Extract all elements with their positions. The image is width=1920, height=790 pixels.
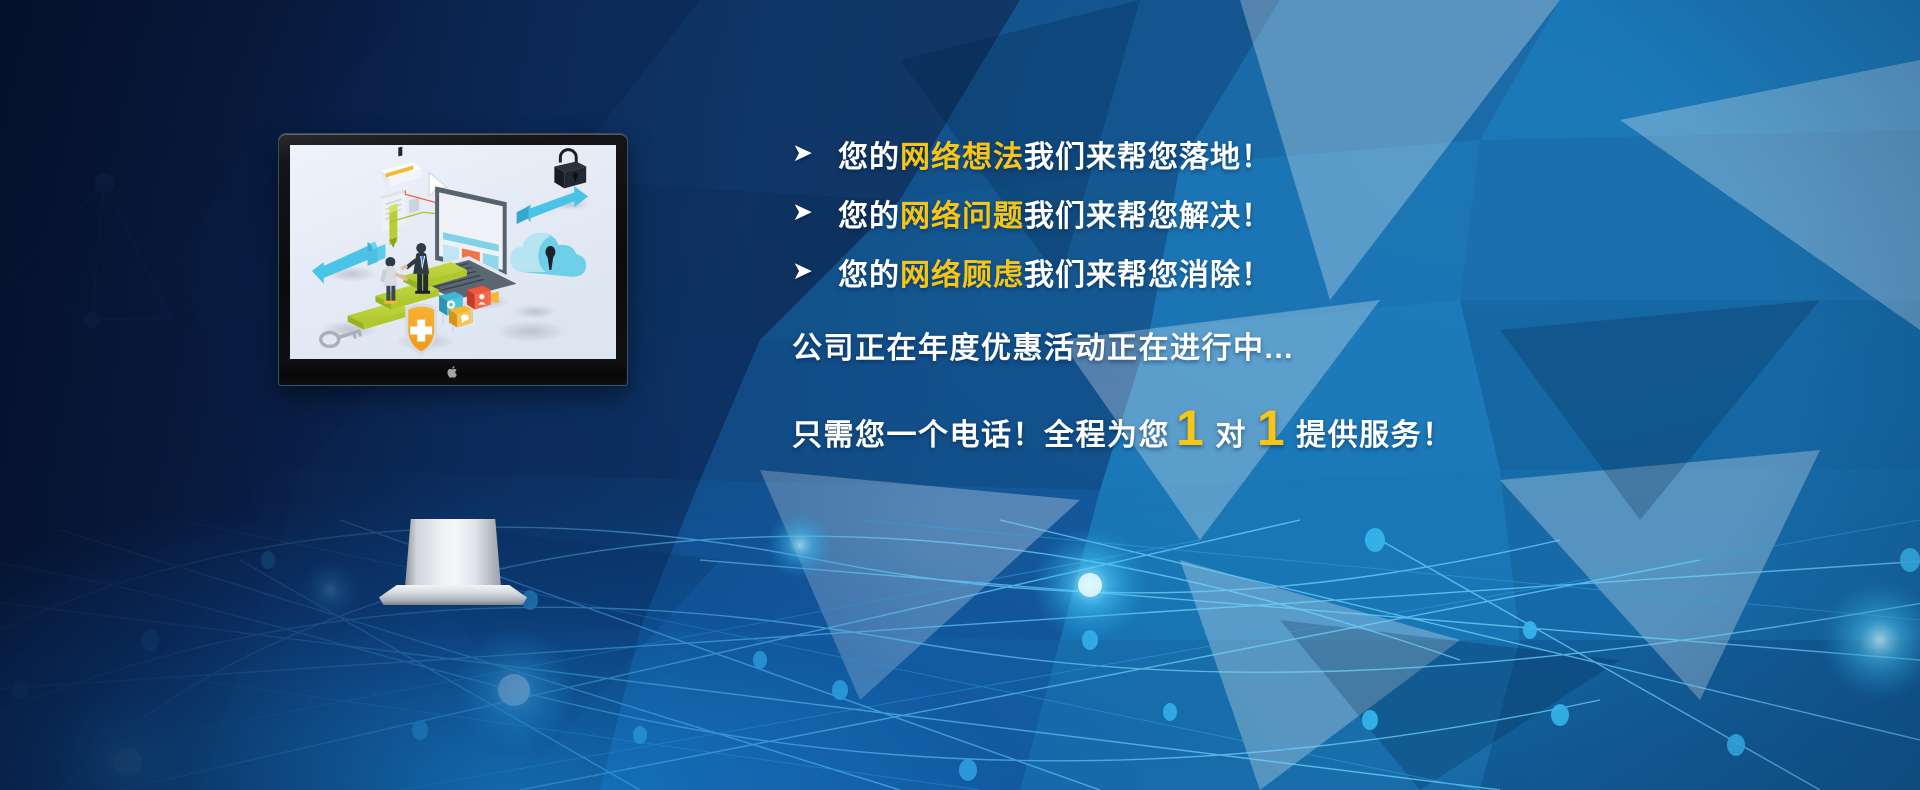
arrow-right-marker-icon: ➤ (792, 200, 838, 225)
monitor-screen (290, 145, 616, 359)
monitor-stand-base (379, 585, 527, 605)
isometric-illustration (290, 145, 616, 359)
bullet-2-highlight: 网络问题 (900, 200, 1024, 233)
callout-number-two: 1 (1251, 403, 1292, 453)
arrow-right-marker-icon: ➤ (792, 259, 838, 284)
bullet-1-suffix: 我们来帮您落地！ (1024, 141, 1272, 174)
monitor-stand-neck (405, 519, 501, 587)
bullet-2-suffix: 我们来帮您解决！ (1024, 200, 1272, 233)
bullet-row-3: ➤ 您的网络顾虑我们来帮您消除！ (792, 242, 1852, 301)
apple-logo (448, 366, 459, 379)
callout-line: 只需您一个电话！全程为您 1 对 1 提供服务！ (792, 403, 1852, 454)
bullet-text-3: 您的网络顾虑我们来帮您消除！ (838, 250, 1272, 294)
bullet-text-1: 您的网络想法我们来帮您落地！ (838, 132, 1272, 176)
bullet-3-prefix: 您的 (838, 259, 900, 292)
monitor-chin (280, 360, 626, 384)
bullet-2-prefix: 您的 (838, 200, 900, 233)
bullet-row-1: ➤ 您的网络想法我们来帮您落地！ (792, 124, 1852, 183)
bullet-1-prefix: 您的 (838, 141, 900, 174)
marker-pen-icon (389, 203, 397, 248)
copy-block: ➤ 您的网络想法我们来帮您落地！ ➤ 您的网络问题我们来帮您解决！ ➤ 您的网络… (792, 124, 1852, 454)
monitor-bezel (278, 133, 628, 386)
callout-tail: 提供服务！ (1292, 410, 1458, 454)
imac-monitor (278, 133, 628, 386)
bullet-row-2: ➤ 您的网络问题我们来帮您解决！ (792, 183, 1852, 242)
hero-banner: ➤ 您的网络想法我们来帮您落地！ ➤ 您的网络问题我们来帮您解决！ ➤ 您的网络… (0, 0, 1920, 790)
callout-lead: 只需您一个电话！全程为您 (792, 410, 1170, 454)
callout-connector: 对 (1211, 410, 1251, 454)
arrow-right-marker-icon: ➤ (792, 141, 838, 166)
promo-line: 公司正在年度优惠活动正在进行中... (792, 323, 1852, 367)
bullet-3-highlight: 网络顾虑 (900, 259, 1024, 292)
callout-number-one: 1 (1170, 403, 1211, 453)
bullet-1-highlight: 网络想法 (900, 141, 1024, 174)
bullet-text-2: 您的网络问题我们来帮您解决！ (838, 191, 1272, 235)
bullet-3-suffix: 我们来帮您消除！ (1024, 259, 1272, 292)
